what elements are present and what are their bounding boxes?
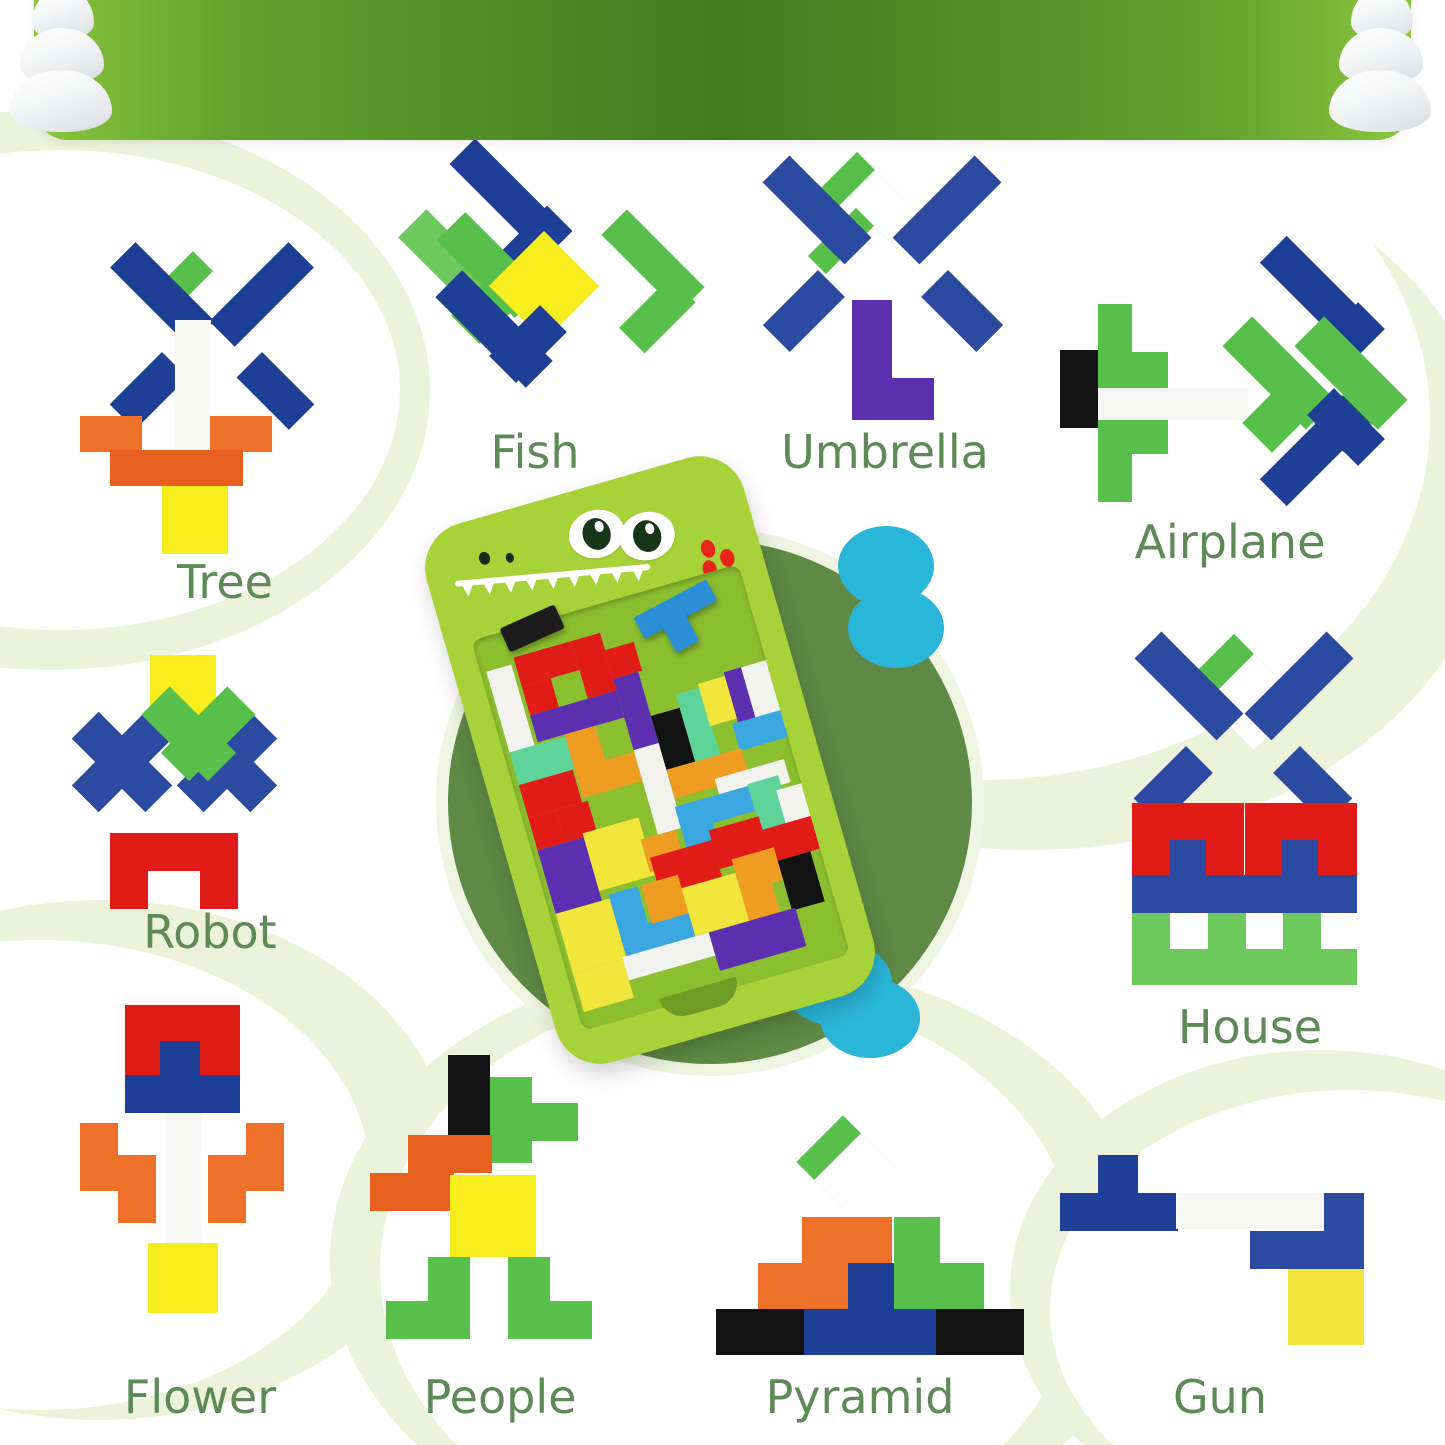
dino-tablet-toy[interactable] [430,470,990,1110]
flower-piece-blue-center [160,1041,200,1077]
shape-fish [400,185,670,415]
shape-label-gun: Gun [1060,1370,1380,1424]
dino-tooth [503,577,518,593]
shape-tree [70,260,380,580]
dino-tablet-frame[interactable] [414,445,886,1074]
flower-piece-white-stem [165,1113,201,1243]
shape-robot [70,655,360,915]
gun-piece-yellow-grip [1288,1269,1364,1345]
dino-tooth [524,575,539,591]
shape-label-tree: Tree [70,555,380,609]
pine-tree-icon-left [8,0,118,150]
shape-flower [80,1005,360,1325]
umbrella-piece-blue-right-b [921,270,1003,352]
dino-tooth [631,565,646,581]
dino-tooth [481,579,496,595]
airplane-piece-green-fin-bot-b [1098,418,1168,454]
infographic-page: Creating More Possibilities Tree [0,0,1445,1445]
pyramid-piece-black-base-right [936,1309,1024,1355]
shape-pyramid [700,1135,1020,1365]
pyramid-piece-black-base-left [716,1309,804,1355]
robot-piece-red-waist [110,833,238,871]
gun-piece-blue-sight-bar [1060,1193,1178,1231]
people-piece-orange-arm-top [408,1135,492,1173]
dino-fin-mid [848,588,944,668]
gun-piece-blue-body-bar [1250,1231,1364,1269]
pyramid-piece-blue-t-base [802,1309,936,1355]
shape-gun [1060,1155,1380,1365]
shape-house [1100,660,1400,1000]
tree-piece-orange-left-bot [110,450,178,486]
dino-tooth [567,571,582,587]
umbrella-piece-purple-handle-foot [852,378,934,420]
shape-label-pyramid: Pyramid [700,1370,1020,1424]
shape-label-flower: Flower [55,1370,345,1424]
people-piece-green-foot-left [386,1301,470,1339]
people-piece-green-foot-right [508,1301,592,1339]
house-piece-blue-t-left [1170,840,1206,878]
dino-tooth [460,581,475,597]
people-piece-orange-arm-bot [370,1173,454,1211]
shape-label-house: House [1100,1000,1400,1054]
pine-tree-icon-right [1327,0,1437,150]
shape-airplane [1060,290,1400,520]
gun-piece-blue-sight-top [1098,1155,1138,1195]
header-banner [34,0,1411,140]
house-piece-green-floor [1132,949,1357,985]
gun-piece-white-barrel [1176,1193,1326,1229]
shape-label-airplane: Airplane [1060,515,1400,569]
tree-piece-white-trunk [175,320,211,448]
flower-piece-yellow-pot [148,1243,218,1313]
airplane-piece-black-tail [1060,350,1100,428]
puzzle-block[interactable] [778,851,825,910]
flower-piece-orange-leaf-right-c [208,1155,246,1223]
house-piece-blue-band [1132,875,1357,913]
flower-piece-orange-leaf-left-c [118,1155,156,1223]
tree-piece-orange-right-top [210,416,272,452]
shape-umbrella [740,180,1030,420]
dino-tooth [609,567,624,583]
airplane-piece-green-fin-top-b [1098,352,1168,388]
tree-piece-orange-left-top [80,416,142,452]
shape-label-people: People [360,1370,640,1424]
pyramid-piece-orange-top [802,1217,892,1263]
dino-tooth [545,573,560,589]
tree-piece-orange-right-bot [175,450,243,486]
airplane-piece-white-fuselage [1098,388,1248,420]
flower-piece-blue-band [125,1075,240,1113]
pyramid-piece-green-right-bot [894,1263,984,1309]
tree-piece-yellow-pot [162,486,228,554]
shape-label-robot: Robot [65,905,355,959]
dino-tooth [588,569,603,585]
umbrella-piece-blue-left-b [763,270,845,352]
people-piece-yellow-torso [450,1175,536,1257]
house-piece-blue-t-right [1282,840,1318,878]
